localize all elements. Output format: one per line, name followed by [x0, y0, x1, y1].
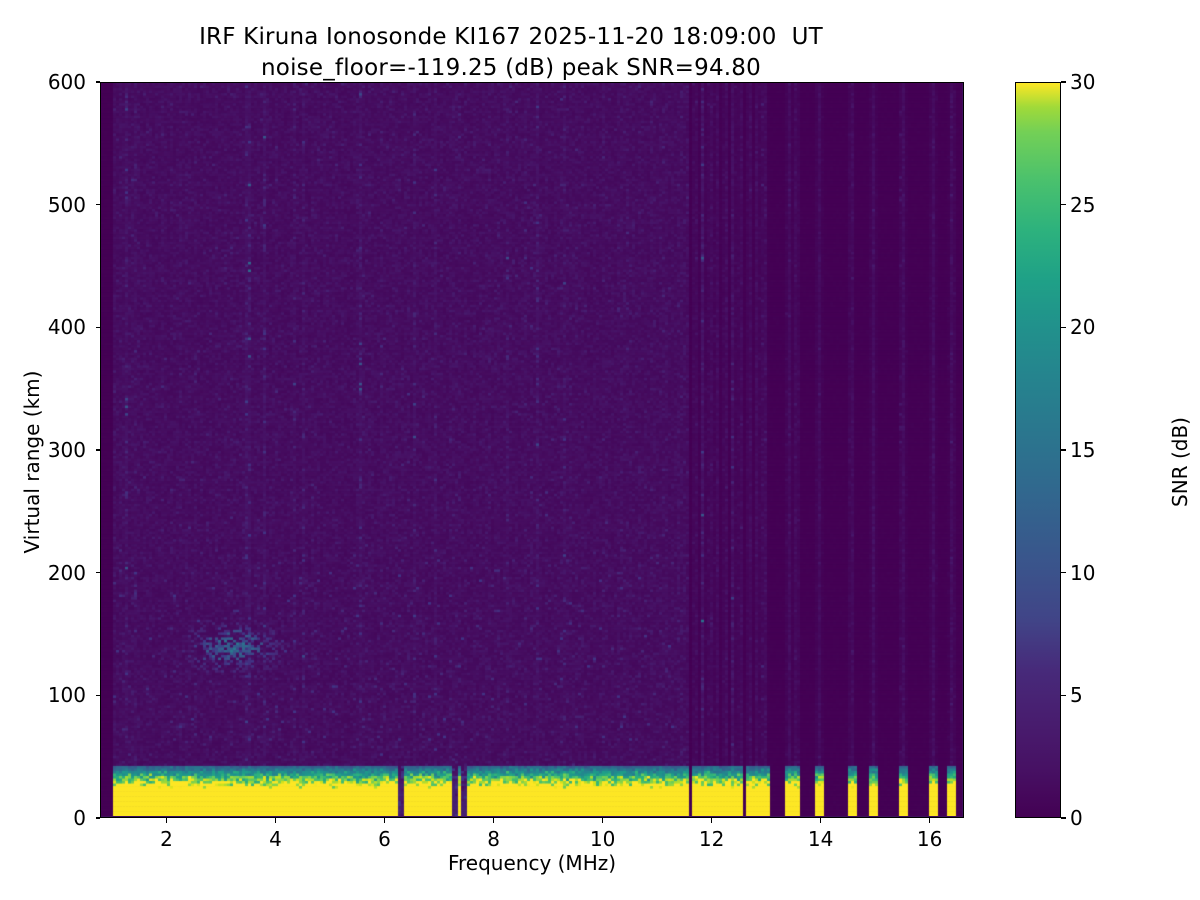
x-tick-label: 10: [573, 827, 633, 851]
x-tick-label: 8: [464, 827, 524, 851]
y-tick-label: 0: [0, 804, 86, 832]
ionogram-heatmap: [101, 83, 962, 816]
y-tick-label: 100: [0, 681, 86, 709]
y-tick-mark: [96, 204, 101, 205]
colorbar-tick-mark: [1061, 695, 1066, 696]
y-tick-mark: [96, 695, 101, 696]
colorbar-tick-label: 15: [1070, 436, 1095, 464]
x-tick-mark: [602, 818, 603, 823]
colorbar-tick-mark: [1061, 204, 1066, 205]
x-tick-label: 2: [137, 827, 197, 851]
colorbar: [1015, 82, 1061, 818]
ionogram-figure: IRF Kiruna Ionosonde KI167 2025-11-20 18…: [0, 0, 1200, 900]
x-tick-mark: [820, 818, 821, 823]
y-tick-label: 500: [0, 191, 86, 219]
x-tick-mark: [493, 818, 494, 823]
colorbar-tick-label: 30: [1070, 68, 1095, 96]
colorbar-tick-mark: [1061, 449, 1066, 450]
colorbar-tick-label: 5: [1070, 681, 1083, 709]
colorbar-tick-mark: [1061, 81, 1066, 82]
y-tick-mark: [96, 327, 101, 328]
x-tick-label: 4: [246, 827, 306, 851]
x-tick-mark: [166, 818, 167, 823]
colorbar-tick-label: 20: [1070, 313, 1095, 341]
colorbar-label: SNR (dB): [1168, 322, 1192, 602]
ionogram-plot-area: [100, 82, 964, 818]
title-line-1: IRF Kiruna Ionosonde KI167 2025-11-20 18…: [0, 22, 1022, 53]
y-tick-mark: [96, 449, 101, 450]
y-tick-mark: [96, 572, 101, 573]
x-tick-mark: [711, 818, 712, 823]
x-tick-label: 12: [682, 827, 742, 851]
x-axis-label: Frequency (MHz): [100, 851, 964, 875]
x-tick-label: 16: [900, 827, 960, 851]
y-axis-label: Virtual range (km): [20, 322, 44, 602]
y-tick-mark: [96, 81, 101, 82]
x-tick-mark: [929, 818, 930, 823]
colorbar-tick-mark: [1061, 817, 1066, 818]
colorbar-tick-label: 25: [1070, 191, 1095, 219]
colorbar-tick-label: 10: [1070, 559, 1095, 587]
x-tick-mark: [384, 818, 385, 823]
title-line-2: noise_floor=-119.25 (dB) peak SNR=94.80: [0, 53, 1022, 84]
colorbar-tick-mark: [1061, 327, 1066, 328]
colorbar-tick-label: 0: [1070, 804, 1083, 832]
y-tick-mark: [96, 817, 101, 818]
y-tick-label: 600: [0, 68, 86, 96]
x-tick-label: 14: [791, 827, 851, 851]
colorbar-tick-mark: [1061, 572, 1066, 573]
figure-title: IRF Kiruna Ionosonde KI167 2025-11-20 18…: [0, 22, 1022, 84]
x-tick-label: 6: [355, 827, 415, 851]
x-tick-mark: [275, 818, 276, 823]
